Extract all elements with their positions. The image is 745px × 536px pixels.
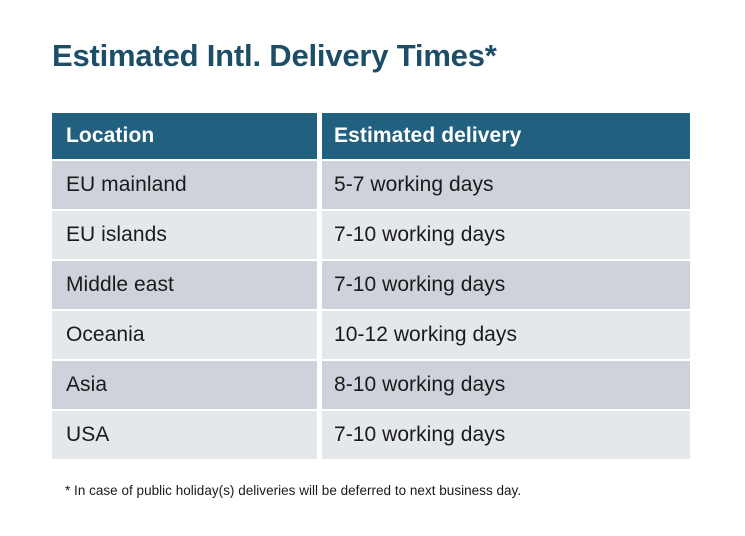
table-cell-location: Oceania — [52, 311, 317, 359]
column-header-location: Location — [66, 124, 154, 148]
location-value: EU mainland — [66, 173, 187, 197]
estimate-value: 10-12 working days — [334, 323, 517, 347]
table-cell-estimate: 10-12 working days — [322, 311, 690, 359]
delivery-times-page: Estimated Intl. Delivery Times* Location… — [0, 0, 745, 536]
table-cell-estimate: 7-10 working days — [322, 211, 690, 259]
table-cell-location: Asia — [52, 361, 317, 409]
estimate-value: 7-10 working days — [334, 423, 505, 447]
table-row: EU islands 7-10 working days — [52, 211, 690, 259]
table-cell-estimate: 7-10 working days — [322, 411, 690, 459]
location-value: Middle east — [66, 273, 174, 297]
table-header-row: Location Estimated delivery — [52, 113, 690, 159]
estimate-value: 7-10 working days — [334, 273, 505, 297]
column-header-estimated-delivery: Estimated delivery — [334, 124, 521, 148]
table-header-cell-location: Location — [52, 113, 317, 159]
table-row: Oceania 10-12 working days — [52, 311, 690, 359]
table-header-cell-estimate: Estimated delivery — [322, 113, 690, 159]
table-cell-location: EU mainland — [52, 161, 317, 209]
table-cell-estimate: 5-7 working days — [322, 161, 690, 209]
table-row: Asia 8-10 working days — [52, 361, 690, 409]
table-cell-location: EU islands — [52, 211, 317, 259]
footnote-text: * In case of public holiday(s) deliverie… — [65, 483, 521, 498]
location-value: Oceania — [66, 323, 145, 347]
location-value: USA — [66, 423, 109, 447]
location-value: EU islands — [66, 223, 167, 247]
table-row: Middle east 7-10 working days — [52, 261, 690, 309]
location-value: Asia — [66, 373, 107, 397]
estimate-value: 5-7 working days — [334, 173, 494, 197]
page-title: Estimated Intl. Delivery Times* — [52, 36, 497, 76]
table-cell-location: Middle east — [52, 261, 317, 309]
estimate-value: 7-10 working days — [334, 223, 505, 247]
table-cell-estimate: 7-10 working days — [322, 261, 690, 309]
estimate-value: 8-10 working days — [334, 373, 505, 397]
table-cell-estimate: 8-10 working days — [322, 361, 690, 409]
table-row: EU mainland 5-7 working days — [52, 161, 690, 209]
delivery-times-table: Location Estimated delivery EU mainland … — [52, 113, 690, 461]
table-cell-location: USA — [52, 411, 317, 459]
table-row: USA 7-10 working days — [52, 411, 690, 459]
